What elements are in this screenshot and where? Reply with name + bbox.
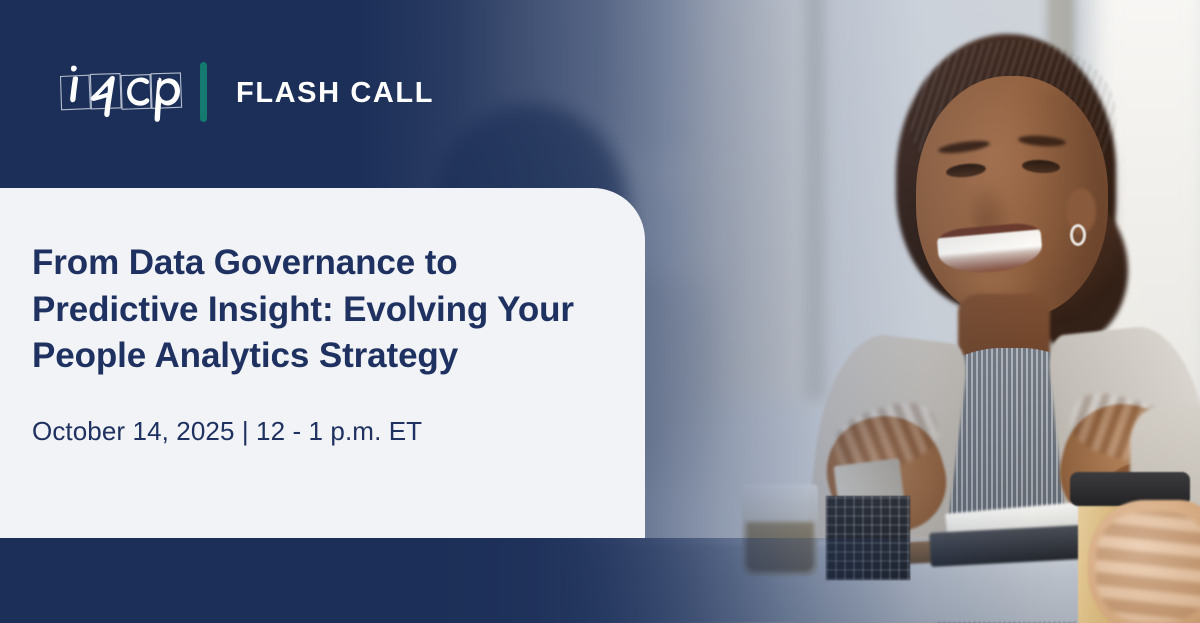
page-title: From Data Governance to Predictive Insig… xyxy=(32,240,632,380)
navy-bottom-band xyxy=(0,538,1200,623)
event-datetime: October 14, 2025 | 12 - 1 p.m. ET xyxy=(32,416,422,447)
page-title-text: From Data Governance to Predictive Insig… xyxy=(32,243,574,375)
vertical-divider-icon xyxy=(200,62,207,122)
flash-call-banner: FLASH CALL From Data Governance to Predi… xyxy=(0,0,1200,623)
i4cp-logo[interactable] xyxy=(58,64,186,122)
banner-header: FLASH CALL xyxy=(0,0,700,188)
content-card: From Data Governance to Predictive Insig… xyxy=(0,188,645,538)
flash-call-label: FLASH CALL xyxy=(236,77,434,110)
